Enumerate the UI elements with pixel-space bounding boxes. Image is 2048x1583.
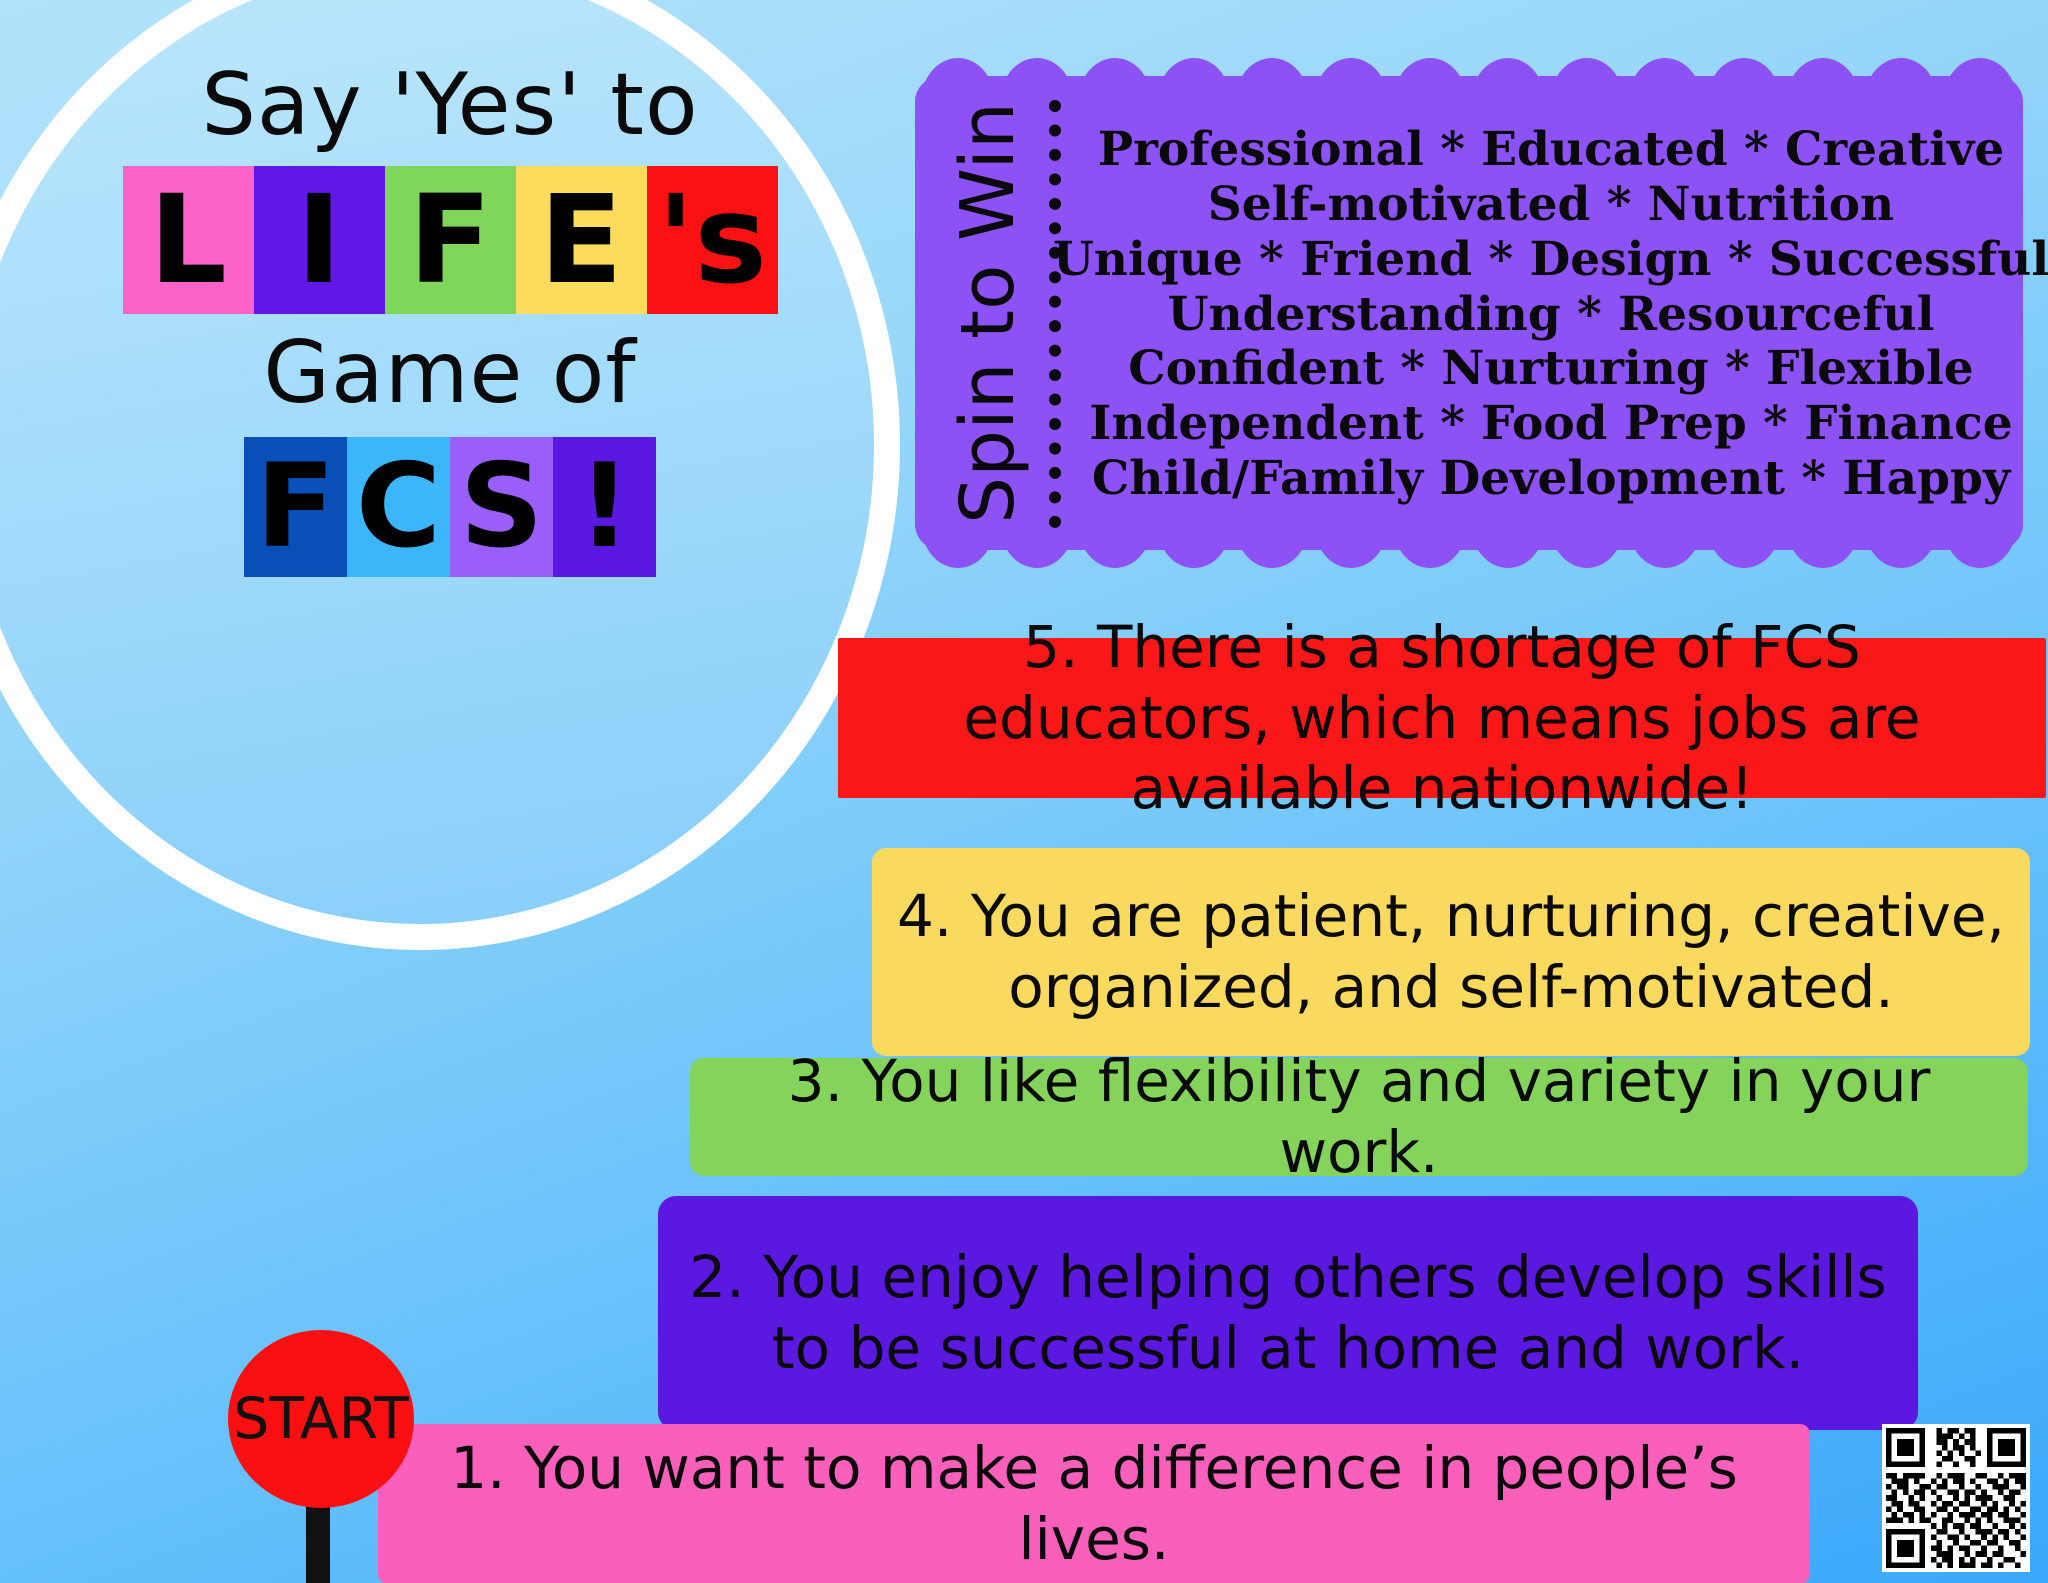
letter-tile-l: L (123, 166, 254, 314)
statement-bar-2-text: 2. You enjoy helping others develop skil… (682, 1242, 1894, 1384)
statement-bar-2: 2. You enjoy helping others develop skil… (658, 1196, 1918, 1430)
letter-tile-apostrophe-s: 's (647, 166, 778, 314)
letter-tile-f-label: F (408, 169, 491, 311)
letter-tile-fcs-s-label: S (460, 439, 544, 574)
letter-tile-i: I (254, 166, 385, 314)
spin-word-list: Professional * Educated * Creative Self-… (1091, 86, 2011, 542)
statement-bar-3-text: 3. You like flexibility and variety in y… (714, 1046, 2004, 1188)
letter-tile-fcs-s: S (450, 437, 553, 577)
statement-bar-1: 1. You want to make a difference in peop… (378, 1424, 1810, 1583)
spin-word-line: Professional * Educated * Creative (1098, 122, 2005, 177)
spin-word-line: Independent * Food Prep * Finance (1089, 396, 2012, 451)
letter-tile-fcs-f-label: F (256, 439, 335, 574)
spin-to-win-title-label: Spin to Win (945, 102, 1031, 524)
letter-tile-e-label: E (539, 169, 622, 311)
statement-bar-4-text: 4. You are patient, nurturing, creative,… (896, 881, 2006, 1023)
letter-tile-fcs-f: F (244, 437, 347, 577)
statement-bar-3: 3. You like flexibility and variety in y… (690, 1058, 2028, 1176)
lifes-letter-row: L I F E 's (0, 166, 900, 314)
letter-tile-f: F (385, 166, 516, 314)
start-marker: START (228, 1330, 414, 1583)
letter-tile-apostrophe-s-label: 's (657, 169, 767, 311)
statement-bar-5-text: 5. There is a shortage of FCS educators,… (862, 612, 2022, 824)
letter-tile-i-label: I (296, 169, 341, 311)
headline-line-2: Game of (0, 328, 900, 418)
letter-tile-fcs-exclamation: ! (553, 437, 656, 577)
headline-block: Say 'Yes' to L I F E 's Game of F C S ! (0, 60, 900, 577)
poster-canvas: Say 'Yes' to L I F E 's Game of F C S ! (0, 0, 2048, 1583)
spin-word-line: Unique * Friend * Design * Successful (1053, 232, 2048, 287)
qr-code[interactable] (1882, 1424, 2030, 1572)
headline-line-1: Say 'Yes' to (0, 60, 900, 150)
dotted-divider (1049, 100, 1061, 528)
spin-word-line: Self-motivated * Nutrition (1208, 177, 1894, 232)
start-label: START (233, 1386, 409, 1452)
spin-to-win-panel: Spin to Win Professional * Educated * Cr… (915, 42, 2023, 584)
statement-bar-4: 4. You are patient, nurturing, creative,… (872, 848, 2030, 1056)
spin-to-win-title: Spin to Win (935, 76, 1041, 550)
letter-tile-fcs-exclamation-label: ! (578, 439, 631, 574)
letter-tile-fcs-c-label: C (356, 439, 441, 574)
statement-bar-1-text: 1. You want to make a difference in peop… (402, 1433, 1786, 1575)
letter-tile-fcs-c: C (347, 437, 450, 577)
letter-tile-e: E (516, 166, 647, 314)
start-marker-circle: START (228, 1330, 414, 1508)
fcs-letter-row: F C S ! (0, 437, 900, 577)
letter-tile-l-label: L (149, 169, 227, 311)
statement-bar-5: 5. There is a shortage of FCS educators,… (838, 638, 2046, 798)
qr-code-image (1886, 1428, 2026, 1568)
spin-word-line: Confident * Nurturing * Flexible (1128, 341, 1973, 396)
spin-word-line: Understanding * Resourceful (1167, 287, 1934, 342)
spin-word-line: Child/Family Development * Happy (1092, 451, 2010, 506)
